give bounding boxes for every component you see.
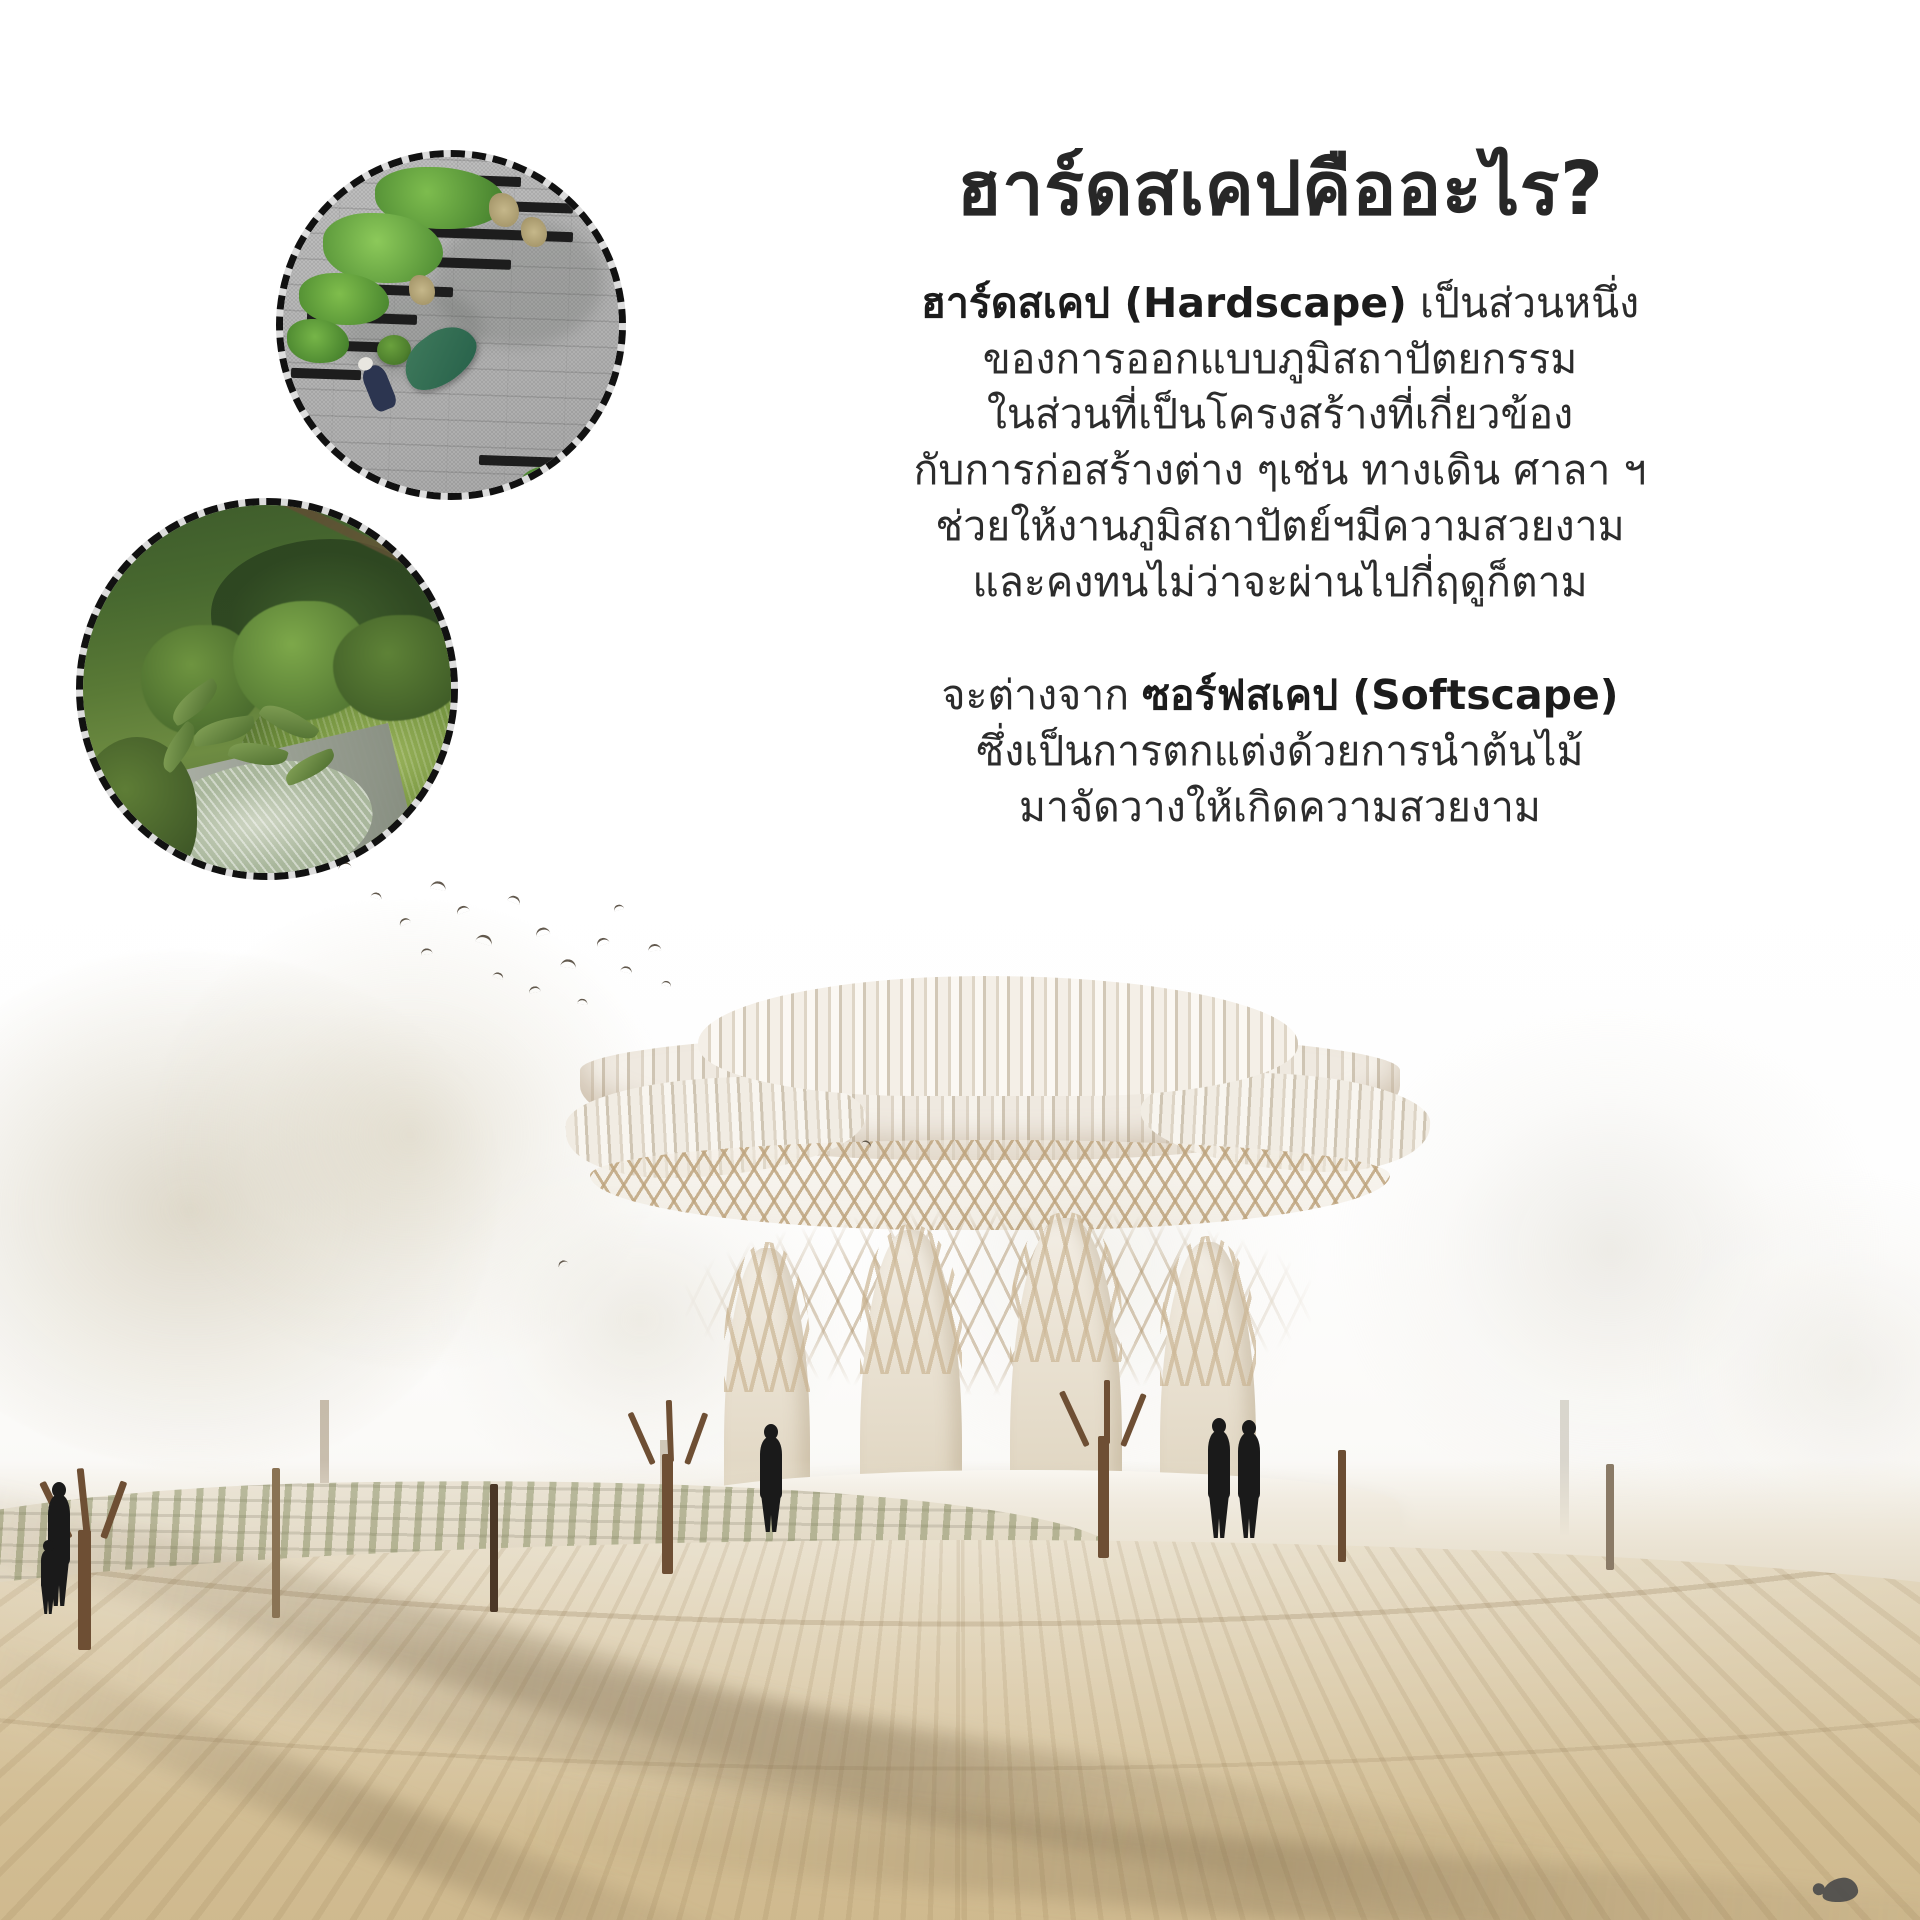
street-tree-trunk	[78, 1530, 91, 1650]
shrub-clump	[333, 615, 451, 721]
paragraph-line: และคงทนไม่ว่าจะผ่านไปกี่ฤดูก็ตาม	[680, 555, 1880, 611]
pavilion-render-scene	[0, 840, 1920, 1920]
column-fan	[1010, 1212, 1122, 1362]
paragraph-softscape: จะต่างจาก ซอร์ฟสเคป (Softscape) ซึ่งเป็น…	[680, 668, 1880, 835]
paragraph-line: ช่วยให้งานภูมิสถาปัตย์ฯมีความสวยงาม	[680, 499, 1880, 555]
person-silhouette	[1236, 1420, 1262, 1538]
person-legs	[1239, 1494, 1259, 1538]
aerial-paving-photo	[283, 157, 619, 493]
column-fan	[724, 1242, 810, 1392]
person-silhouette	[1206, 1418, 1232, 1538]
paragraph-hardscape: ฮาร์ดสเคป (Hardscape) เป็นส่วนหนึ่ง ของก…	[680, 276, 1880, 611]
term-hardscape: ฮาร์ดสเคป (Hardscape)	[921, 279, 1407, 327]
paragraph-line: จะต่างจาก ซอร์ฟสเคป (Softscape)	[680, 668, 1880, 724]
canopy-crown	[698, 976, 1298, 1096]
person-body	[760, 1437, 782, 1499]
child-legs	[41, 1584, 55, 1614]
street-tree-branch	[1104, 1380, 1110, 1444]
column-fan	[860, 1224, 962, 1374]
circle-photo-hardscape	[276, 150, 626, 500]
person-body	[1238, 1433, 1260, 1499]
paragraph-line: ฮาร์ดสเคป (Hardscape) เป็นส่วนหนึ่ง	[680, 276, 1880, 332]
street-tree-trunk	[490, 1484, 498, 1612]
text-column: ฮาร์ดสเคปคืออะไร? ฮาร์ดสเคป (Hardscape) …	[680, 150, 1880, 836]
term-softscape: ซอร์ฟสเคป (Softscape)	[1142, 671, 1618, 719]
child-silhouette	[38, 1540, 58, 1616]
paragraph-line: ซึ่งเป็นการตกแต่งด้วยการนำต้นไม้	[680, 724, 1880, 780]
paragraph-line-text: เป็นส่วนหนึ่ง	[1407, 279, 1639, 327]
paragraph-line: ของการออกแบบภูมิสถาปัตยกรรม	[680, 332, 1880, 388]
page-title: ฮาร์ดสเคปคืออะไร?	[680, 150, 1880, 230]
person-body	[1208, 1431, 1230, 1499]
street-tree-trunk	[1606, 1464, 1614, 1570]
street-tree-trunk	[1098, 1436, 1109, 1558]
person-silhouette	[758, 1424, 784, 1536]
street-tree-trunk	[1338, 1450, 1346, 1562]
person-legs	[761, 1494, 781, 1532]
circle-photo-softscape	[76, 498, 458, 880]
child-body	[41, 1550, 56, 1588]
person-legs	[1209, 1494, 1229, 1538]
paragraph-line: ในส่วนที่เป็นโครงสร้างที่เกี่ยวข้อง	[680, 387, 1880, 443]
street-tree-trunk	[272, 1468, 280, 1618]
paragraph-line: กับการก่อสร้างต่าง ๆเช่น ทางเดิน ศาลา ฯ	[680, 443, 1880, 499]
planting-bed-photo	[83, 505, 451, 873]
paragraph-line-text: จะต่างจาก	[941, 671, 1142, 719]
paragraph-line: มาจัดวางให้เกิดความสวยงาม	[680, 780, 1880, 836]
column-fan	[1160, 1236, 1256, 1386]
street-tree-trunk	[662, 1454, 673, 1574]
poster-root: ฮาร์ดสเคปคืออะไร? ฮาร์ดสเคป (Hardscape) …	[0, 0, 1920, 1920]
